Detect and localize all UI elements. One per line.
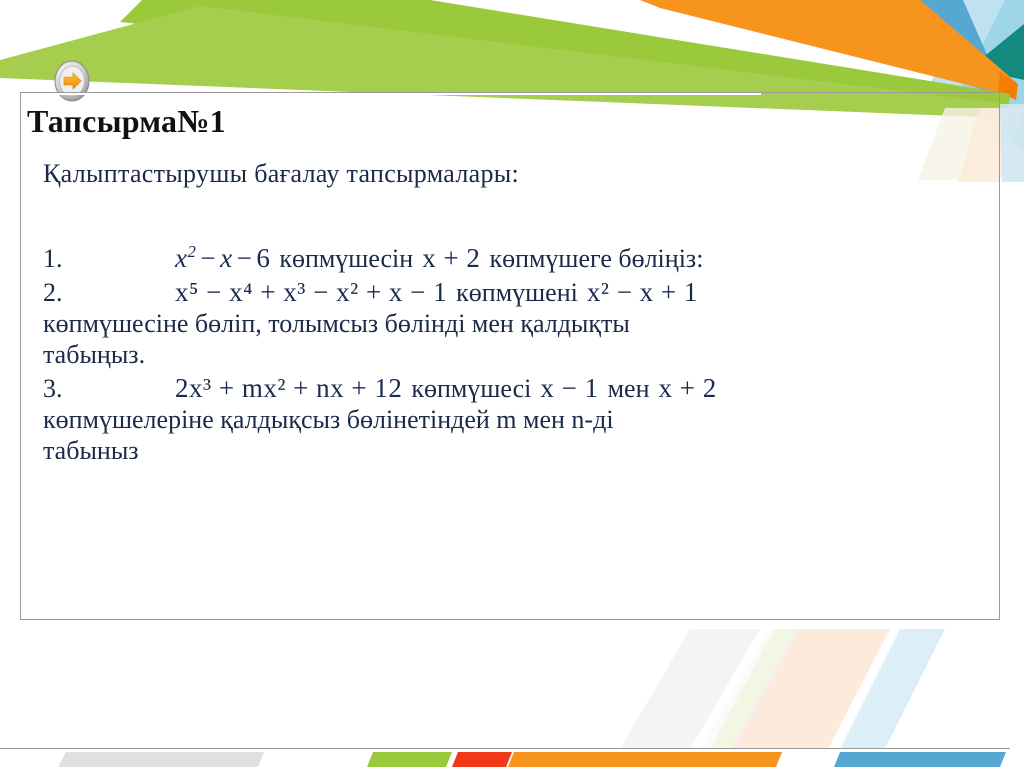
ribbon-blue-2 xyxy=(805,0,1002,96)
task-item-1: 1.x2−x−6көпмүшесінx + 2көпмүшеге бөліңіз… xyxy=(43,243,1000,272)
task-3-expression-3: x + 2 xyxy=(659,373,717,403)
ribbon-orange-tip xyxy=(998,72,1018,100)
task-3-expression-2: x − 1 xyxy=(540,373,598,403)
pale-band-green xyxy=(710,629,800,749)
stripe-grey xyxy=(58,752,264,767)
ribbon-pale-blue xyxy=(1000,104,1024,182)
pale-band-grey-2 xyxy=(700,629,820,749)
task-3-number: 3. xyxy=(43,375,175,402)
task-3-expression-1: 2x³ + mx² + nx + 12 xyxy=(175,373,402,403)
ribbon-blue xyxy=(862,0,1000,84)
ribbon-teal-2 xyxy=(975,26,1024,74)
math-x: x xyxy=(175,243,187,273)
math-x: x xyxy=(220,243,232,273)
stripe-green xyxy=(367,752,452,767)
task-1-text-2: көпмүшеге бөліңіз: xyxy=(489,244,703,273)
content-frame: Тапсырмалар: Тапсырма№1 Қалыптастырушы б… xyxy=(20,92,1000,620)
stripe-blue xyxy=(834,752,1006,767)
task-3-continuation-1: көпмүшелеріне қалдықсыз бөлінетіндей m м… xyxy=(43,406,1000,433)
task-1-text-1: көпмүшесін xyxy=(279,244,413,273)
page-title: Тапсырма№1 xyxy=(27,103,226,140)
pale-band-grey xyxy=(620,629,760,749)
math-minus: − xyxy=(196,243,220,273)
ribbon-teal xyxy=(970,24,1024,80)
math-six: 6 xyxy=(256,243,270,273)
frame-bottom-line xyxy=(0,748,1010,749)
pale-band-blue xyxy=(840,629,945,749)
stripe-orange xyxy=(508,752,782,767)
task-list: 1.x2−x−6көпмүшесінx + 2көпмүшеге бөліңіз… xyxy=(43,243,1000,459)
task-item-2: 2.x⁵ − x⁴ + x³ − x² + x − 1көпмүшеніx² −… xyxy=(43,278,1000,306)
task-item-3: 3.2x³ + mx² + nx + 12көпмүшесіx − 1менx … xyxy=(43,374,1000,402)
pale-band-pink xyxy=(732,629,830,749)
task-3-text-1: көпмүшесі xyxy=(411,374,531,403)
task-2-number: 2. xyxy=(43,279,175,306)
pale-band-orange xyxy=(740,629,890,749)
subtitle: Қалыптастырушы бағалау тапсырмалары: xyxy=(43,159,519,189)
stripe-red xyxy=(452,752,512,767)
task-2-continuation-2: табыңыз. xyxy=(43,341,1000,368)
task-2-text-1: көпмүшені xyxy=(456,278,578,307)
presentation-slide: Тапсырмалар: Тапсырма№1 Қалыптастырушы б… xyxy=(0,0,1024,767)
task-1-number: 1. xyxy=(43,245,175,272)
task-2-continuation-1: көпмүшесіне бөліп, толымсыз бөлінді мен … xyxy=(43,310,1000,337)
task-2-expression-2: x² − x + 1 xyxy=(587,277,698,307)
ribbon-orange xyxy=(640,0,1016,96)
task-3-text-mid: мен xyxy=(608,374,650,403)
task-3-continuation-2: табыңыз xyxy=(43,437,1000,459)
task-1-expression-2: x + 2 xyxy=(422,243,480,273)
task-2-expression-1: x⁵ − x⁴ + x³ − x² + x − 1 xyxy=(175,277,447,307)
task-1-expression-1: x2−x−6 xyxy=(175,243,270,273)
math-minus: − xyxy=(233,243,257,273)
clipped-heading: Тапсырмалар: xyxy=(29,92,239,99)
